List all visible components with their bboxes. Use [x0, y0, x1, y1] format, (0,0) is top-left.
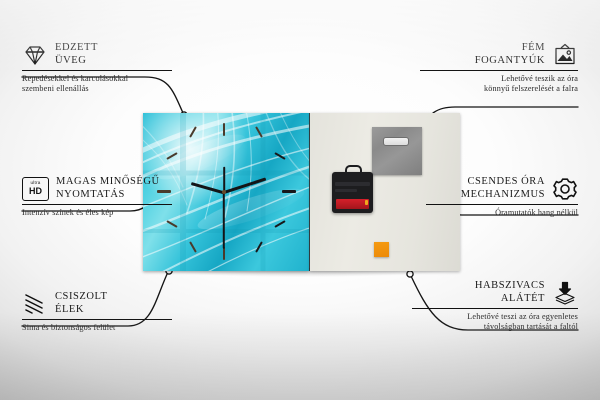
metal-hanger — [372, 127, 422, 175]
feature-title-line1: FÉM — [475, 42, 545, 55]
product-image — [143, 113, 460, 271]
feature-rule — [412, 308, 578, 309]
clock-second-hand — [223, 192, 225, 248]
feature-rule — [22, 204, 172, 205]
feature-title-line1: CSENDES ÓRA — [461, 176, 545, 189]
diamond-icon — [22, 43, 48, 67]
clock-second-hand-tail — [223, 166, 225, 192]
feature-sub-line2: könnyű felszerelését a falra — [420, 84, 578, 94]
feature-title-line1: CSISZOLT — [55, 291, 107, 304]
feature-title-line2: ÜVEG — [55, 55, 98, 68]
feature-rule — [22, 319, 172, 320]
polished-edges-icon — [22, 292, 48, 316]
feature-sub-line1: Óramutatók hang nélkül — [426, 208, 578, 218]
clock-tick — [223, 247, 225, 260]
feature-sub-line1: Sima és biztonságos felület — [22, 323, 172, 333]
feature-rule — [420, 70, 578, 71]
feature-title-line2: NYOMTATÁS — [56, 189, 160, 202]
feature-sub-line1: Intenzív színek és éles kép — [22, 208, 172, 218]
ultra-hd-icon: ultra HD — [22, 177, 49, 201]
clock-tick — [223, 123, 225, 136]
clock-mechanism — [332, 172, 373, 213]
clock-battery — [336, 199, 369, 209]
feature-title-line2: FOGANTYÚK — [475, 55, 545, 68]
feature-title-line1: EDZETT — [55, 42, 98, 55]
feature-title-line1: HABSZIVACS — [475, 280, 545, 293]
infographic-canvas: EDZETT ÜVEG Repedésekkel és karcolásokka… — [0, 0, 600, 400]
picture-frame-hook-icon — [552, 43, 578, 67]
feature-title-line2: ÉLEK — [55, 304, 107, 317]
feature-title-line2: MECHANIZMUS — [461, 189, 545, 202]
feature-rule — [22, 70, 172, 71]
feature-polished-edges: CSISZOLT ÉLEK Sima és biztonságos felüle… — [22, 291, 172, 333]
feature-sub-line2: szembeni ellenállás — [22, 84, 172, 94]
feature-rule — [426, 204, 578, 205]
gear-icon — [552, 177, 578, 201]
feature-metal-handles: FÉM FOGANTYÚK Lehetővé teszik az óra kön… — [420, 42, 578, 94]
clock-center-hub — [222, 190, 226, 194]
foam-pad — [374, 242, 389, 257]
feature-quiet-mechanism: CSENDES ÓRA MECHANIZMUS Óramutatók hang … — [426, 176, 578, 218]
feature-sub-line1: Lehetővé teszi az óra egyenletes — [412, 312, 578, 322]
feature-foam-pad: HABSZIVACS ALÁTÉT Lehetővé teszi az óra … — [412, 280, 578, 332]
feature-sub-line1: Repedésekkel és karcolásokkal — [22, 74, 172, 84]
clock-tick — [282, 190, 296, 193]
feature-title-line2: ALÁTÉT — [475, 293, 545, 306]
feature-title-line1: MAGAS MINŐSÉGŰ — [56, 176, 160, 189]
feature-tempered-glass: EDZETT ÜVEG Repedésekkel és karcolásokka… — [22, 42, 172, 94]
ultra-hd-bottom: HD — [29, 187, 42, 196]
arrow-onto-layers-icon — [552, 281, 578, 305]
feature-sub-line1: Lehetővé teszik az óra — [420, 74, 578, 84]
feature-high-quality-print: ultra HD MAGAS MINŐSÉGŰ NYOMTATÁS Intenz… — [22, 176, 172, 218]
feature-sub-line2: távolságban tartását a faltól — [412, 322, 578, 332]
